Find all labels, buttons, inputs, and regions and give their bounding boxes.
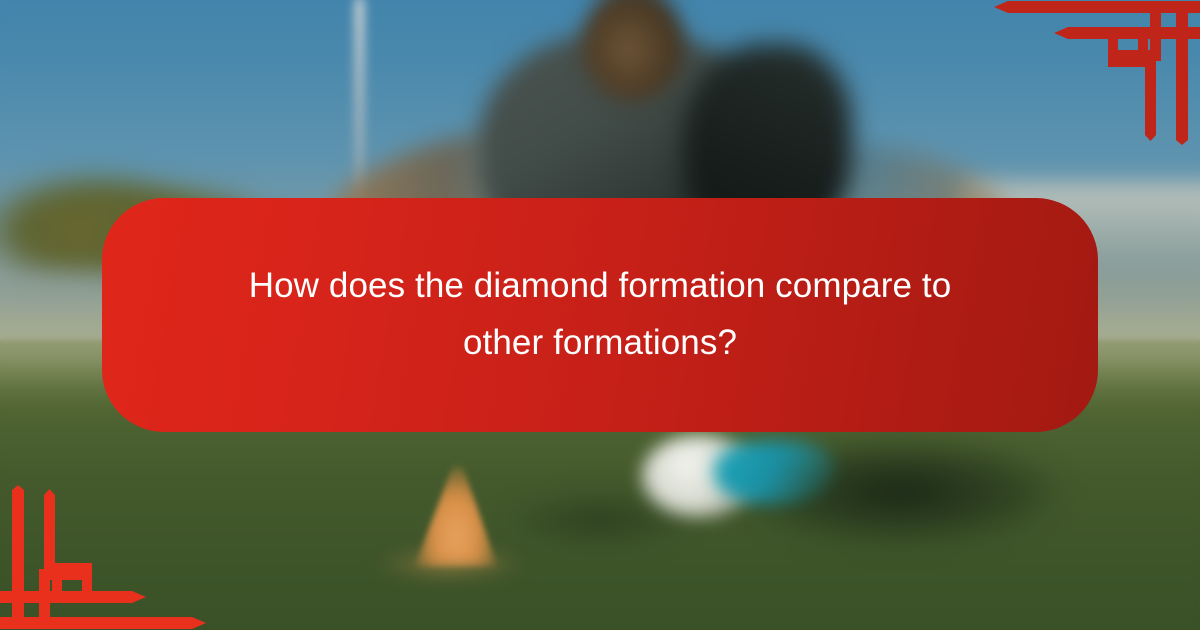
social-card-canvas: How does the diamond formation compare t… <box>0 0 1200 630</box>
question-text: How does the diamond formation compare t… <box>220 258 980 371</box>
question-card: How does the diamond formation compare t… <box>102 198 1098 432</box>
soccer-cleat <box>714 441 834 504</box>
